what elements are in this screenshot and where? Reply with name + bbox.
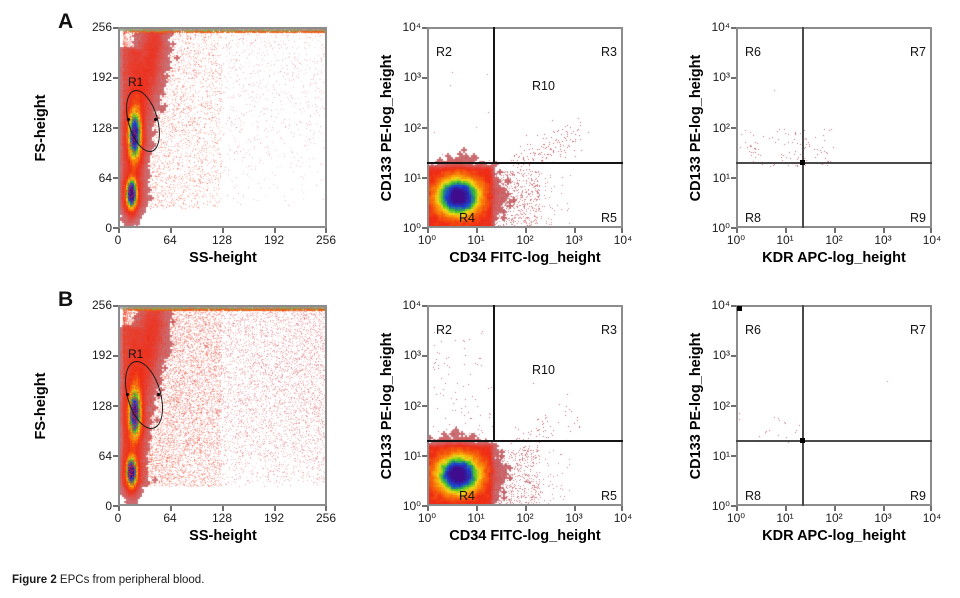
tickmark	[422, 305, 427, 307]
tickmark	[525, 228, 527, 233]
plot-b-cd133-vs-cd34: R2 R3 R4 R5 R10	[427, 305, 623, 506]
quadrant-divider-vertical[interactable]	[493, 27, 495, 163]
panel-letter-a: A	[58, 10, 73, 34]
xtick-b3-1e0: 10⁰	[721, 511, 751, 525]
tickmark	[883, 506, 885, 511]
gate-handle[interactable]	[126, 393, 129, 396]
quadrant-divider-horizontal[interactable]	[736, 162, 932, 164]
axis-label-y-b2: CD133 PE-log_height	[379, 306, 395, 506]
axis-label-x-b3: KDR APC-log_height	[734, 528, 934, 544]
region-label-r9: R9	[910, 211, 926, 225]
xtick-a2-1e0: 10⁰	[412, 233, 442, 247]
ytick-b1-192: 192	[78, 348, 112, 362]
plot-a-fs-vs-ss: R1	[118, 27, 327, 228]
region-label-r6: R6	[745, 45, 761, 59]
tickmark	[785, 506, 787, 511]
xtick-a1-0: 0	[103, 233, 133, 247]
tickmark	[113, 77, 118, 79]
plot-frame	[427, 305, 623, 506]
axis-label-y-a2: CD133 PE-log_height	[379, 28, 395, 228]
tickmark	[427, 506, 429, 511]
plot-a-cd133-vs-cd34: R2 R3 R4 R5 R10	[427, 27, 623, 228]
quadrant-divider-horizontal[interactable]	[427, 440, 623, 442]
corner-marker[interactable]	[737, 306, 742, 311]
tickmark	[731, 455, 736, 457]
axis-label-x-b1: SS-height	[163, 528, 283, 544]
tickmark	[731, 305, 736, 307]
tickmark	[113, 27, 118, 29]
xtick-a1-64: 64	[155, 233, 185, 247]
tickmark	[113, 305, 118, 307]
tickmark	[113, 127, 118, 129]
gate-handle[interactable]	[157, 393, 160, 396]
xtick-a3-1e4: 10⁴	[917, 233, 947, 247]
tickmark	[274, 506, 276, 511]
tickmark	[222, 506, 224, 511]
tickmark	[731, 355, 736, 357]
tickmark	[113, 177, 118, 179]
tickmark	[621, 506, 623, 511]
xtick-a3-1e3: 10³	[868, 233, 898, 247]
tickmark	[422, 127, 427, 129]
tickmark	[325, 506, 327, 511]
region-label-r3: R3	[601, 45, 617, 59]
tickmark	[422, 177, 427, 179]
figure-caption-label: Figure 2	[12, 574, 57, 586]
tickmark	[422, 405, 427, 407]
figure-2-flow-cytometry: A R1 256 192 128 64 0 0 64 128 192 256 F…	[0, 0, 960, 598]
xtick-b2-1e3: 10³	[559, 511, 589, 525]
xtick-b3-1e1: 10¹	[770, 511, 800, 525]
ytick-a1-192: 192	[78, 70, 112, 84]
tickmark	[930, 506, 932, 511]
axis-label-x-a3: KDR APC-log_height	[734, 250, 934, 266]
region-label-r7: R7	[910, 323, 926, 337]
xtick-a3-1e2: 10²	[819, 233, 849, 247]
tickmark	[170, 228, 172, 233]
plot-frame	[427, 27, 623, 228]
plot-a-cd133-vs-kdr: R6 R7 R8 R9	[736, 27, 932, 228]
tickmark	[731, 127, 736, 129]
region-label-r4: R4	[459, 489, 475, 503]
tickmark	[834, 228, 836, 233]
region-label-r2: R2	[436, 323, 452, 337]
quadrant-divider-vertical[interactable]	[802, 27, 804, 228]
xtick-a3-1e0: 10⁰	[721, 233, 751, 247]
tickmark	[476, 506, 478, 511]
figure-caption: Figure 2 EPCs from peripheral blood.	[12, 574, 204, 586]
xtick-a2-1e1: 10¹	[461, 233, 491, 247]
region-label-r10: R10	[532, 363, 555, 377]
tickmark	[118, 506, 120, 511]
ytick-b1-256: 256	[78, 298, 112, 312]
xtick-b1-0: 0	[103, 511, 133, 525]
xtick-a2-1e4: 10⁴	[608, 233, 638, 247]
quadrant-divider-vertical[interactable]	[493, 305, 495, 441]
xtick-b1-256: 256	[311, 511, 341, 525]
tickmark	[736, 506, 738, 511]
region-label-r4: R4	[459, 211, 475, 225]
axis-label-y-a3: CD133 PE-log_height	[688, 28, 704, 228]
tickmark	[422, 27, 427, 29]
tickmark	[422, 355, 427, 357]
region-label-r2: R2	[436, 45, 452, 59]
region-label-r5: R5	[601, 489, 617, 503]
tickmark	[170, 506, 172, 511]
tickmark	[574, 228, 576, 233]
tickmark	[422, 77, 427, 79]
tickmark	[113, 455, 118, 457]
quadrant-center-handle[interactable]	[800, 160, 805, 165]
axis-label-y-b3: CD133 PE-log_height	[688, 306, 704, 506]
region-label-r8: R8	[745, 489, 761, 503]
ytick-a1-64: 64	[78, 171, 112, 185]
region-label-r9: R9	[910, 489, 926, 503]
xtick-a2-1e2: 10²	[510, 233, 540, 247]
plot-frame	[736, 305, 932, 506]
ytick-b1-128: 128	[78, 399, 112, 413]
tickmark	[525, 506, 527, 511]
tickmark	[731, 77, 736, 79]
tickmark	[731, 177, 736, 179]
xtick-b2-1e2: 10²	[510, 511, 540, 525]
region-label-r1: R1	[128, 347, 143, 361]
xtick-b3-1e2: 10²	[819, 511, 849, 525]
tickmark	[930, 228, 932, 233]
region-label-r6: R6	[745, 323, 761, 337]
xtick-b1-64: 64	[155, 511, 185, 525]
tickmark	[621, 228, 623, 233]
tickmark	[422, 455, 427, 457]
tickmark	[834, 506, 836, 511]
plot-b-cd133-vs-kdr: R6 R7 R8 R9	[736, 305, 932, 506]
gate-handle[interactable]	[154, 118, 157, 121]
region-label-r3: R3	[601, 323, 617, 337]
axis-label-y-b1: FS-height	[33, 346, 49, 466]
figure-caption-text: EPCs from peripheral blood.	[57, 574, 205, 586]
panel-letter-b: B	[58, 288, 73, 312]
xtick-a3-1e1: 10¹	[770, 233, 800, 247]
xtick-b2-1e1: 10¹	[461, 511, 491, 525]
xtick-a1-192: 192	[259, 233, 289, 247]
xtick-b1-128: 128	[207, 511, 237, 525]
quadrant-center-handle[interactable]	[800, 438, 805, 443]
ytick-b1-64: 64	[78, 449, 112, 463]
ytick-a1-256: 256	[78, 20, 112, 34]
xtick-b1-192: 192	[259, 511, 289, 525]
quadrant-divider-horizontal[interactable]	[427, 162, 623, 164]
xtick-b2-1e0: 10⁰	[412, 511, 442, 525]
tickmark	[574, 506, 576, 511]
plot-frame	[736, 27, 932, 228]
xtick-a1-128: 128	[207, 233, 237, 247]
tickmark	[731, 405, 736, 407]
tickmark	[476, 228, 478, 233]
tickmark	[736, 228, 738, 233]
xtick-b2-1e4: 10⁴	[608, 511, 638, 525]
xtick-b3-1e4: 10⁴	[917, 511, 947, 525]
tickmark	[113, 355, 118, 357]
tickmark	[274, 228, 276, 233]
tickmark	[118, 228, 120, 233]
plot-b-fs-vs-ss: R1	[118, 305, 327, 506]
region-label-r1: R1	[128, 75, 143, 89]
xtick-a2-1e3: 10³	[559, 233, 589, 247]
ytick-a1-128: 128	[78, 121, 112, 135]
axis-label-x-a2: CD34 FITC-log_height	[425, 250, 625, 266]
tickmark	[427, 228, 429, 233]
tickmark	[325, 228, 327, 233]
xtick-b3-1e3: 10³	[868, 511, 898, 525]
tickmark	[113, 405, 118, 407]
axis-label-x-b2: CD34 FITC-log_height	[425, 528, 625, 544]
region-label-r8: R8	[745, 211, 761, 225]
region-label-r7: R7	[910, 45, 926, 59]
tickmark	[785, 228, 787, 233]
region-label-r5: R5	[601, 211, 617, 225]
quadrant-divider-horizontal[interactable]	[736, 440, 932, 442]
xtick-a1-256: 256	[311, 233, 341, 247]
tickmark	[731, 27, 736, 29]
axis-label-y-a1: FS-height	[33, 68, 49, 188]
tickmark	[883, 228, 885, 233]
quadrant-divider-vertical[interactable]	[802, 305, 804, 506]
tickmark	[222, 228, 224, 233]
axis-label-x-a1: SS-height	[163, 250, 283, 266]
gate-handle[interactable]	[127, 118, 130, 121]
region-label-r10: R10	[532, 79, 555, 93]
